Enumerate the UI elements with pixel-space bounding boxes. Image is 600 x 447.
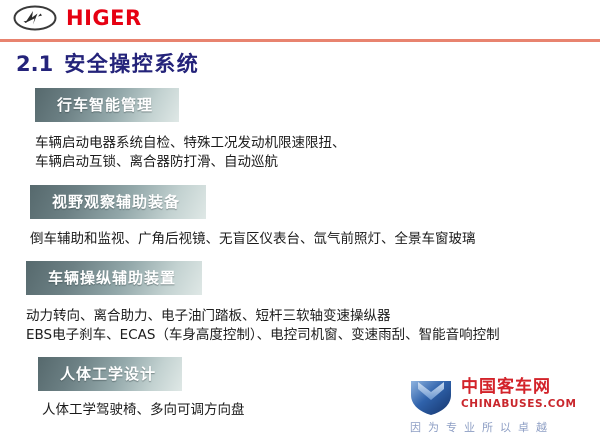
brand-header: HIGER	[0, 0, 600, 41]
slide-title-text: 安全操控系统	[64, 52, 199, 76]
page-title: 2.1安全操控系统	[16, 48, 199, 78]
slide-content: 行车智能管理 车辆启动电器系统自检、特殊工况发动机限速限扭、 车辆启动互锁、离合…	[0, 88, 600, 420]
section-body-line: 车辆启动互锁、离合器防打滑、自动巡航	[35, 153, 600, 172]
watermark-tagline: 因为专业所以卓越	[410, 419, 584, 435]
section-body: 倒车辅助和监视、广角后视镜、无盲区仪表台、氙气前照灯、全景车窗玻璃	[30, 230, 600, 249]
watermark-texts: 中国客车网 CHINABUSES.COM	[461, 376, 577, 411]
blue-shield-logo	[408, 376, 454, 416]
section-block: 视野观察辅助装备 倒车辅助和监视、广角后视镜、无盲区仪表台、氙气前照灯、全景车窗…	[0, 172, 600, 249]
watermark-site-name-cn: 中国客车网	[461, 378, 577, 397]
section-header-label: 行车智能管理	[35, 88, 179, 122]
section-body: 动力转向、离合助力、电子油门踏板、短杆三软轴变速操纵器 EBS电子刹车、ECAS…	[26, 307, 600, 345]
section-header-label: 人体工学设计	[38, 357, 182, 391]
section-body-line: 倒车辅助和监视、广角后视镜、无盲区仪表台、氙气前照灯、全景车窗玻璃	[30, 230, 600, 249]
watermark-top: 中国客车网 CHINABUSES.COM	[408, 376, 584, 416]
section-header-label: 车辆操纵辅助装置	[26, 261, 202, 295]
section-header-label: 视野观察辅助装备	[30, 185, 206, 219]
higer-oval-lightning-logo	[13, 5, 57, 31]
watermark-site-name-en: CHINABUSES.COM	[461, 398, 577, 411]
section-body-line: 车辆启动电器系统自检、特殊工况发动机限速限扭、	[35, 134, 600, 153]
section-block: 车辆操纵辅助装置 动力转向、离合助力、电子油门踏板、短杆三软轴变速操纵器 EBS…	[0, 249, 600, 345]
section-body-line: 动力转向、离合助力、电子油门踏板、短杆三软轴变速操纵器	[26, 307, 600, 326]
section-body: 车辆启动电器系统自检、特殊工况发动机限速限扭、 车辆启动互锁、离合器防打滑、自动…	[35, 134, 600, 172]
header-divider	[0, 39, 600, 42]
section-body-line: EBS电子刹车、ECAS（车身高度控制）、电控司机窗、变速雨刮、智能音响控制	[26, 326, 600, 345]
brand-name: HIGER	[66, 5, 142, 31]
slide-number: 2.1	[16, 52, 53, 76]
watermark: 中国客车网 CHINABUSES.COM 因为专业所以卓越	[408, 376, 584, 442]
section-block: 行车智能管理 车辆启动电器系统自检、特殊工况发动机限速限扭、 车辆启动互锁、离合…	[0, 88, 600, 172]
brand-logo: HIGER	[13, 5, 142, 31]
